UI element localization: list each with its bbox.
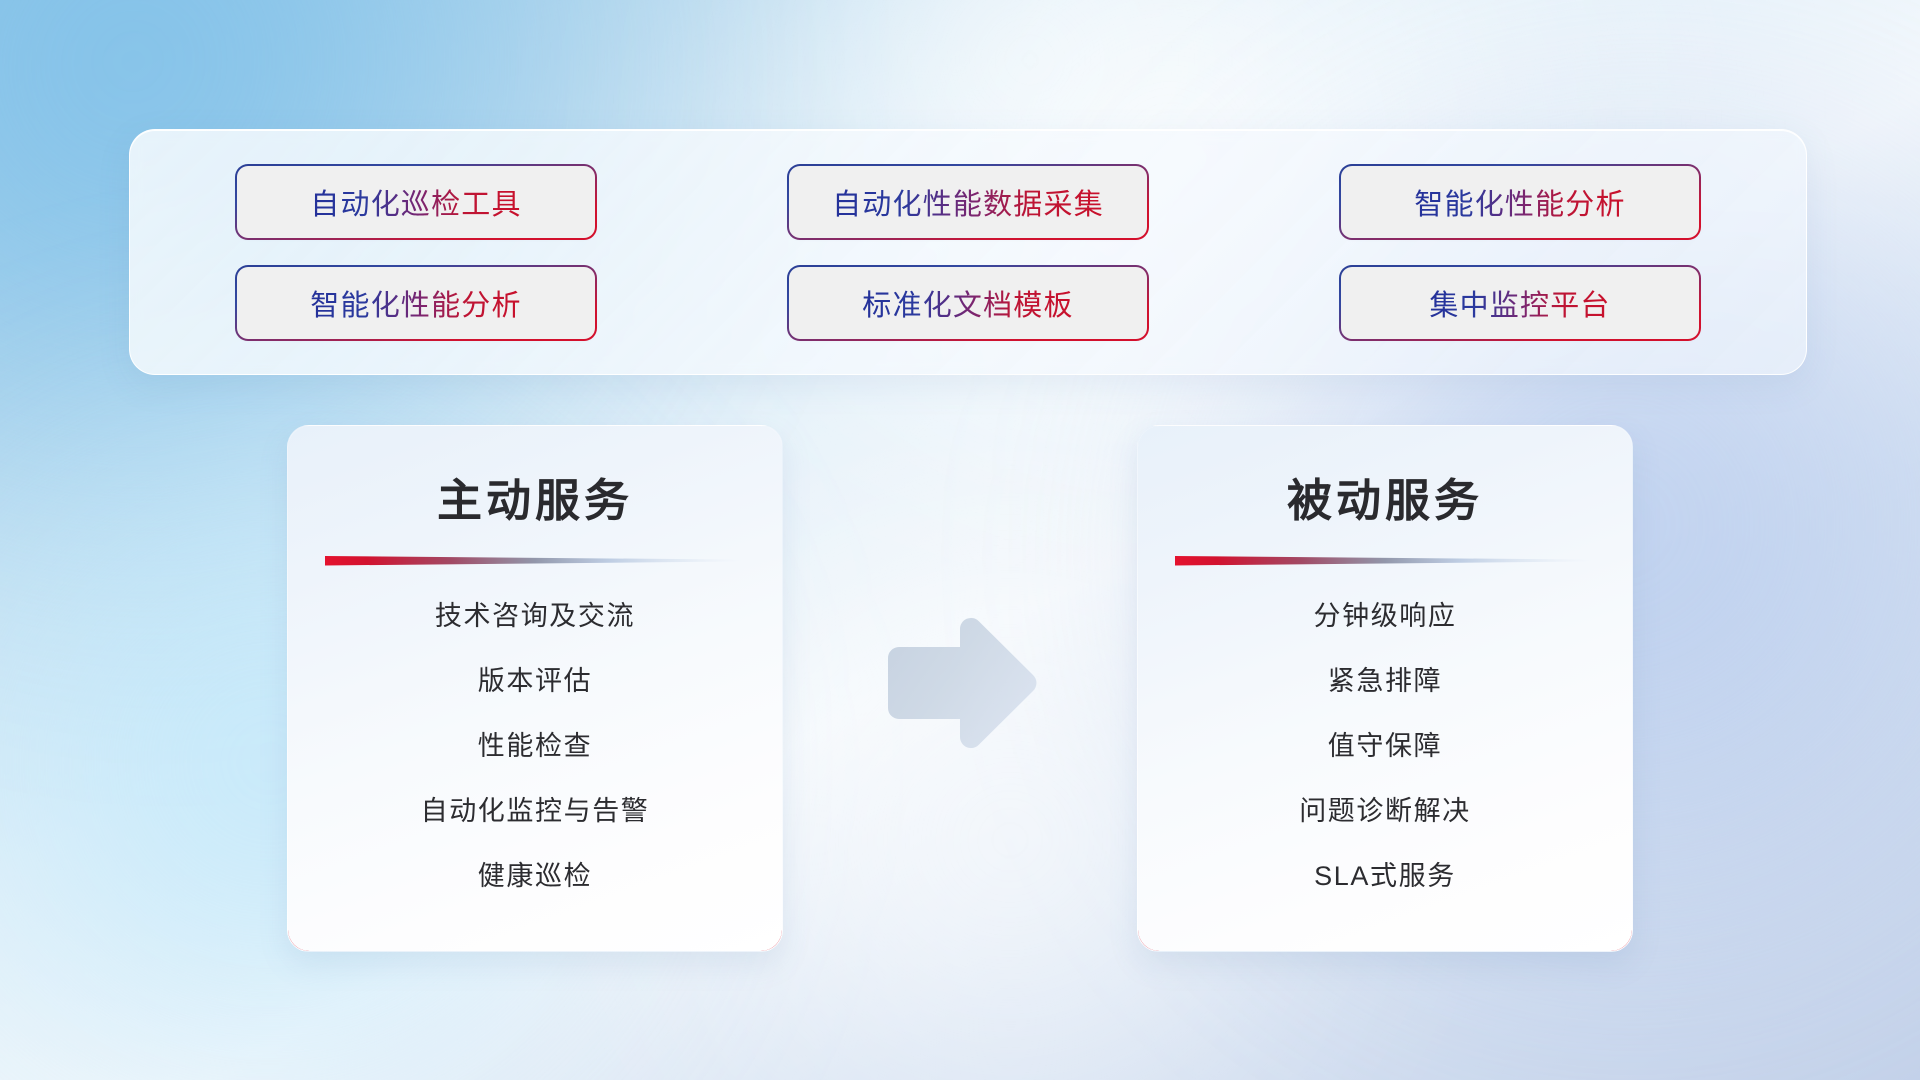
list-item: SLA式服务 <box>1138 844 1632 909</box>
card-title-reactive: 被动服务 <box>1138 464 1632 529</box>
list-item: 分钟级响应 <box>1138 584 1632 649</box>
service-card-reactive: 被动服务 分钟级响应 紧急排障 值守保障 问题诊断解决 SLA式服务 <box>1137 425 1633 952</box>
list-item: 问题诊断解决 <box>1138 779 1632 844</box>
capability-pill-label: 标准化文档模板 <box>862 282 1073 324</box>
card-title-proactive: 主动服务 <box>288 464 782 529</box>
list-item: 值守保障 <box>1138 714 1632 779</box>
list-item: 版本评估 <box>288 649 782 714</box>
list-item: 性能检查 <box>288 714 782 779</box>
capability-pill-grid: 自动化巡检工具 自动化性能数据采集 智能化性能分析 智能化性能分析 标准化文档模… <box>237 166 1699 339</box>
service-list-reactive: 分钟级响应 紧急排障 值守保障 问题诊断解决 SLA式服务 <box>1138 584 1632 909</box>
list-item: 技术咨询及交流 <box>288 584 782 649</box>
list-item: 健康巡检 <box>288 844 782 909</box>
capability-pill-label: 自动化巡检工具 <box>310 181 521 223</box>
list-item: 紧急排障 <box>1138 649 1632 714</box>
card-divider-proactive <box>325 555 745 566</box>
card-divider-reactive <box>1175 555 1595 566</box>
service-card-proactive: 主动服务 技术咨询及交流 版本评估 性能检查 自动化监控与告警 健康巡检 <box>287 425 783 952</box>
capability-panel: 自动化巡检工具 自动化性能数据采集 智能化性能分析 智能化性能分析 标准化文档模… <box>129 129 1807 375</box>
list-item: 自动化监控与告警 <box>288 779 782 844</box>
capability-pill-3[interactable]: 智能化性能分析 <box>1341 166 1699 238</box>
capability-pill-1[interactable]: 自动化巡检工具 <box>237 166 595 238</box>
capability-pill-label: 集中监控平台 <box>1429 282 1610 324</box>
capability-pill-label: 智能化性能分析 <box>1414 181 1625 223</box>
capability-pill-2[interactable]: 自动化性能数据采集 <box>789 166 1147 238</box>
arrow-right-icon <box>876 617 1042 749</box>
capability-pill-label: 智能化性能分析 <box>310 282 521 324</box>
capability-pill-4[interactable]: 智能化性能分析 <box>237 267 595 339</box>
capability-pill-6[interactable]: 集中监控平台 <box>1341 267 1699 339</box>
service-list-proactive: 技术咨询及交流 版本评估 性能检查 自动化监控与告警 健康巡检 <box>288 584 782 909</box>
capability-pill-label: 自动化性能数据采集 <box>832 181 1104 223</box>
capability-pill-5[interactable]: 标准化文档模板 <box>789 267 1147 339</box>
